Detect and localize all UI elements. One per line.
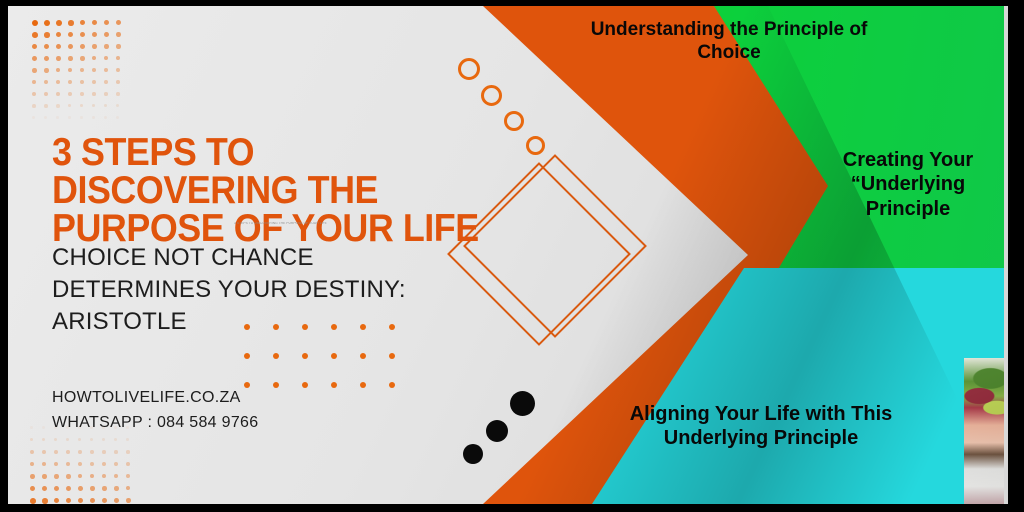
grid-dot [30,426,33,429]
grid-dot [80,44,85,49]
grid-dot [44,68,49,73]
poster-frame: 3 STEPS TO DISCOVERING THE PURPOSE OF YO… [0,0,1024,512]
grid-dot [244,353,250,359]
grid-dot [102,462,106,466]
food-photo-image [964,358,1008,504]
grid-dot [32,32,38,38]
grid-dot [66,486,71,491]
grid-dot [102,486,107,491]
grid-dot [32,92,36,96]
grid-dot [116,32,121,37]
poster-slide: 3 STEPS TO DISCOVERING THE PURPOSE OF YO… [8,6,1008,504]
grid-dot [54,450,58,454]
grid-dot [302,382,308,388]
grid-dot [68,56,73,61]
grid-dot [56,56,61,61]
grid-dot [126,498,131,503]
grid-dot [68,92,72,96]
grid-dot [80,56,85,61]
grid-dot [104,44,109,49]
grid-dot [116,80,120,84]
panel-label-creating: Creating Your “Underlying Principle [808,148,1008,221]
grid-dot [44,56,49,61]
grid-dot [44,20,50,26]
grid-dot [104,32,109,37]
grid-dot [116,68,120,72]
contact-block: HOWTOLIVELIFE.CO.ZA WHATSAPP : 084 584 9… [52,386,258,436]
circle-outline-3 [504,111,524,131]
contact-whatsapp: WHATSAPP : 084 584 9766 [52,411,258,436]
grid-dot [32,20,38,26]
grid-dot [42,426,45,429]
grid-dot [42,450,46,454]
page-title: 3 STEPS TO DISCOVERING THE PURPOSE OF YO… [52,134,484,249]
black-circle-small [463,444,483,464]
contact-website: HOWTOLIVELIFE.CO.ZA [52,386,258,411]
grid-dot [90,486,95,491]
grid-dot [114,462,118,466]
circle-outline-2 [481,85,502,106]
black-circle-medium [486,420,508,442]
microcopy-line: 3 STEPS TO DISCOVERING THE PURPOSE OF YO… [234,222,344,225]
grid-dot [360,353,366,359]
grid-dot [42,474,47,479]
grid-dot [30,450,34,454]
grid-dot [32,68,37,73]
grid-dot [66,450,70,454]
grid-dot [92,32,97,37]
black-circle-large [510,391,535,416]
grid-dot [56,104,60,108]
grid-dot [104,80,108,84]
grid-dot [68,44,73,49]
grid-dot [331,382,337,388]
grid-dot [116,44,121,49]
grid-dot [44,32,50,38]
grid-dot [92,80,96,84]
grid-dot [104,92,108,96]
grid-dot [360,382,366,388]
grid-dot [56,20,62,26]
grid-dot [90,450,94,454]
panel-label-aligning: Aligning Your Life with This Underlying … [596,402,926,451]
grid-dot [389,382,395,388]
grid-dot [90,462,94,466]
grid-dot [273,353,279,359]
grid-dot [30,498,36,504]
grid-dot [331,353,337,359]
grid-dot [42,498,48,504]
grid-dot [114,450,118,454]
grid-dot [54,486,59,491]
grid-dot [126,450,130,454]
grid-dot [44,92,48,96]
grid-dot [116,20,121,25]
grid-dot [302,353,308,359]
grid-dot [116,92,120,96]
subheadline: CHOICE NOT CHANCE DETERMINES YOUR DESTIN… [52,242,452,338]
grid-dot [78,450,82,454]
grid-dot [68,20,74,26]
grid-dot [32,56,37,61]
grid-dot [389,353,395,359]
circle-outline-1 [458,58,480,80]
grid-dot [54,474,59,479]
grid-dot [80,80,84,84]
grid-dot [273,382,279,388]
grid-dot [102,498,107,503]
circle-outline-4 [526,136,545,155]
grid-dot [56,92,60,96]
grid-dot [92,92,96,96]
grid-dot [126,462,130,466]
grid-dot [80,92,84,96]
grid-dot [102,450,106,454]
grid-dot [30,474,35,479]
grid-dot [66,474,71,479]
grid-dot [114,486,119,491]
grid-dot [92,44,97,49]
grid-dot [114,498,119,503]
grid-dot [42,486,47,491]
grid-dot [44,104,48,108]
grid-dot [78,486,83,491]
grid-dot [90,498,95,503]
grid-dot [32,104,36,108]
photo-seam-divider [1004,6,1008,504]
grid-dot [68,80,72,84]
panel-label-understanding: Understanding the Principle of Choice [584,18,874,64]
